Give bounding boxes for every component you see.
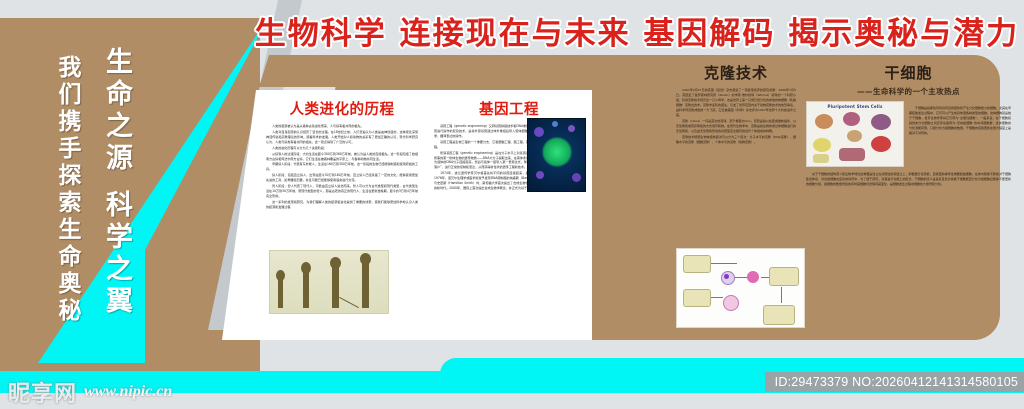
- section-title-evolution: 人类进化的历程: [266, 98, 418, 119]
- sheep-cloning-diagram: [676, 248, 805, 328]
- main-title-band: 生物科学 连接现在与未来 基因解码 揭示奥秘与潜力: [250, 6, 1024, 54]
- evolution-p4: 从猿到人的过渡阶段：大约生活在距今300万到360万年前，被认为是人类的直接祖先…: [266, 152, 418, 162]
- evolution-body: 人类的起源被认为是从森林古猿进化而来，人与猿有着共同的祖先。 人类对自身起源的认…: [266, 124, 418, 210]
- watermark-left: 昵享网 www.nipic.cn: [8, 376, 172, 408]
- stem-p1: 干细胞是指那些同时具有自我更新和产生分化细胞能力的细胞。尤其在早期胚胎发生过程中…: [909, 106, 1011, 136]
- evolution-p7: 智人阶段：智人代表了现代人，可能由直立猿人进化而来。智人可以分为古代类型和现代类…: [266, 184, 418, 199]
- stem-image-caption: Pluripotent Stem Cells: [807, 104, 903, 109]
- slogan-we-explore: 我们携手探索生命奥秘: [50, 55, 84, 325]
- slogan-science-wing: 科学之翼: [97, 190, 136, 318]
- section-subtitle-stem: ——生命科学的一个主攻热点: [806, 86, 1011, 97]
- section-stem-cells: 干细胞 ——生命科学的一个主攻热点 Pluripotent Stem Cells…: [806, 62, 1011, 188]
- poster-canvas: 生物科学 连接现在与未来 基因解码 揭示奥秘与潜力 生命之源 科学之翼 我们携手…: [0, 0, 1024, 409]
- page-title: 生物科学 连接现在与未来 基因解码 揭示奥秘与潜力: [255, 8, 1019, 53]
- section-genetic-engineering: 基因工程 基因工程（genetic engineering）又称基因拼接技术和D…: [434, 98, 584, 192]
- section-cloning: 克隆技术 1997年2月27日的英国《自然》杂志报道了一项震惊世界的研究成果：1…: [676, 62, 796, 146]
- section-title-clone: 克隆技术: [676, 62, 796, 83]
- dna-microscopy-image: [527, 118, 586, 192]
- stem-body: 干细胞是指那些同时具有自我更新和产生分化细胞能力的细胞。尤其在早期胚胎发生过程中…: [909, 106, 1011, 167]
- watermark-site-name: 昵享网: [8, 376, 77, 408]
- evolution-p3: 人类的进化历程可以分为几个关键阶段：: [266, 146, 418, 151]
- stem-body-2: 关于干细胞的结构意义和生物学特性最重要是建立在功能性的基础之上，即根据分化潜能，…: [806, 172, 1011, 187]
- march-of-progress-image: [269, 250, 389, 314]
- evolution-p5: 早期猿人阶段：代表有东非能人，生活在160万到300万年前，这一阶段的生物已经能…: [266, 162, 418, 172]
- stem-p2: 关于干细胞的结构意义和生物学特性最重要是建立在功能性的基础之上，即根据分化潜能，…: [806, 172, 1011, 187]
- watermark-site-url: www.nipic.cn: [84, 383, 172, 401]
- evolution-p6: 猿人阶段：包括直立猿人，出现在距今50万到160万年前，直立猿人已经具备了一定的…: [266, 173, 418, 183]
- clone-p2: 克隆（clone）一词是英文的音译，源于希腊文klon，原意是指以幼苗或嫩枝插条…: [676, 119, 796, 134]
- section-title-genetic: 基因工程: [434, 98, 584, 119]
- clone-p3: 克隆技术按照生物体结构层次可以分为三个层次：分子水平的克隆（DNA克隆）、细胞水…: [676, 135, 796, 145]
- pluripotent-stem-cells-image: Pluripotent Stem Cells: [806, 101, 904, 167]
- evolution-p2: 人类对自身起源的认识经历了漫长的过程。在18世纪之前，人们普遍认为人类是由神创造…: [266, 130, 418, 145]
- section-human-evolution: 人类进化的历程 人类的起源被认为是从森林古猿进化而来，人与猿有着共同的祖先。 人…: [266, 98, 418, 211]
- white-article-panel: 人类进化的历程 人类的起源被认为是从森林古猿进化而来，人与猿有着共同的祖先。 人…: [222, 90, 592, 340]
- slogan-life-source: 生命之源: [97, 47, 136, 175]
- section-title-stem: 干细胞: [806, 62, 1011, 83]
- evolution-p1: 人类的起源被认为是从森林古猿进化而来，人与猿有着共同的祖先。: [266, 124, 418, 129]
- clone-body: 1997年2月27日的英国《自然》杂志报道了一项震惊世界的研究成果：1996年7…: [676, 88, 796, 145]
- clone-p1: 1997年2月27日的英国《自然》杂志报道了一项震惊世界的研究成果：1996年7…: [676, 88, 796, 118]
- watermark-id-strip: ID:29473379 NO:20260412141314580105: [765, 372, 1024, 392]
- evolution-p8: 这一系列的发现和研究，为我们理解人类的起源和进化提供了重要的线索，使我们能够更加…: [266, 200, 418, 210]
